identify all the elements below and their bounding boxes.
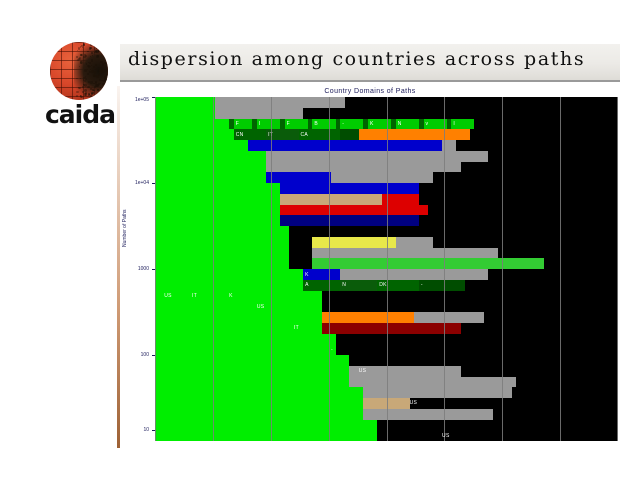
bar-segment: [484, 312, 618, 323]
bar-segment: N: [340, 280, 377, 291]
bar-segment: [516, 377, 618, 388]
caida-logo: caida: [44, 42, 116, 134]
bar-segment: [155, 398, 363, 409]
globe-speck: [90, 69, 91, 70]
bar-segment: [433, 237, 618, 248]
segment-label: B: [314, 121, 318, 127]
bar-segment: [377, 430, 618, 441]
inline-country-label: IT: [192, 293, 197, 299]
globe-speck: [96, 75, 98, 77]
segment-label: CA: [301, 132, 309, 138]
x-gridline: [387, 97, 388, 441]
chart-container: Country Domains of Paths Number of Paths…: [120, 86, 620, 448]
bar-segment: -: [340, 119, 363, 130]
bar-segment: [465, 280, 618, 291]
segment-label: A: [305, 282, 309, 288]
bar-segment: [155, 97, 215, 108]
bar-segment: [377, 420, 618, 431]
bar-segment: -: [419, 280, 465, 291]
bar-segment: DK: [377, 280, 419, 291]
segment-label: F: [287, 121, 290, 127]
globe-speck: [95, 81, 97, 83]
bar-segment: [312, 248, 497, 259]
globe-speck: [93, 66, 94, 67]
bar-segment: [155, 269, 303, 280]
bar-segment: [155, 237, 289, 248]
bar-segment: [155, 409, 363, 420]
bar-segment: [280, 215, 419, 226]
globe-speck: [76, 56, 77, 57]
bar-segment: [155, 334, 336, 345]
bar-segment: A: [303, 280, 340, 291]
inline-country-label: -: [331, 347, 333, 353]
globe-speck: [102, 83, 105, 86]
bar-segment: [155, 366, 349, 377]
bar-segment: [266, 162, 460, 173]
bar-segment: [428, 205, 618, 216]
page-title: dispersion among countries across paths: [128, 48, 585, 70]
bar-segment: [410, 398, 618, 409]
bar-segment: [155, 387, 363, 398]
bar-segment: [312, 237, 395, 248]
globe-speck: [76, 91, 79, 94]
globe-speck: [80, 95, 83, 98]
bar-segment: K: [368, 119, 391, 130]
bar-segment: [280, 183, 419, 194]
bar-segment: [512, 387, 618, 398]
bar-segment: [312, 258, 544, 269]
bar-segment: K: [303, 269, 340, 280]
bar-segment: [493, 409, 618, 420]
bar-segment: [456, 140, 618, 151]
bar-segment: [155, 248, 289, 259]
segment-label: I: [259, 121, 261, 127]
bar-segment: [488, 269, 618, 280]
y-tick-label: 10: [143, 427, 149, 433]
bar-segment: [280, 194, 382, 205]
bar-segment: [433, 172, 618, 183]
bar-segment: B: [312, 119, 335, 130]
bar-segment: [155, 140, 248, 151]
globe-speck: [85, 55, 87, 57]
plot-area: FIFB-KNvICNITCAKANDK-USITKUSIT-USUSUS: [155, 97, 618, 441]
y-tick-label: 1e+05: [135, 97, 149, 103]
bar-segment: I: [451, 119, 474, 130]
bottom-rule: [120, 447, 620, 449]
bar-segment: [488, 151, 618, 162]
segment-label: v: [426, 121, 429, 127]
globe-speck: [99, 71, 102, 74]
globe-speck: [102, 88, 104, 90]
globe-speck: [105, 89, 106, 90]
bar-segment: [155, 226, 289, 237]
x-gridline: [329, 97, 330, 441]
bar-segment: [155, 183, 280, 194]
bar-segment: [340, 269, 488, 280]
bar-segment: [359, 129, 470, 140]
globe-speck: [95, 51, 96, 52]
x-gridline: [213, 97, 214, 441]
bar-segment: [461, 162, 618, 173]
globe-speck: [80, 54, 82, 56]
bar-segment: [474, 119, 618, 130]
globe-speck: [90, 43, 92, 45]
x-gridline: [444, 97, 445, 441]
caida-globe-icon: [50, 42, 108, 100]
bar-segment: F: [234, 119, 253, 130]
bar-segment: [155, 430, 377, 441]
bar-segment: [155, 205, 280, 216]
globe-speck: [97, 89, 99, 91]
globe-speck: [91, 70, 94, 73]
x-gridline: [560, 97, 561, 441]
bar-segment: [461, 323, 618, 334]
inline-country-label: US: [257, 304, 265, 310]
bar-segment: [470, 129, 618, 140]
inline-country-label: IT: [294, 325, 299, 331]
bar-segment: [322, 301, 618, 312]
inline-country-label: US: [442, 433, 450, 439]
x-gridline: [271, 97, 272, 441]
globe-speck: [106, 82, 107, 83]
bar-segment: v: [424, 119, 447, 130]
bar-segment: [419, 183, 618, 194]
x-gridline: [155, 97, 156, 441]
segment-label: N: [342, 282, 346, 288]
bar-segment: [155, 355, 349, 366]
globe-speck: [76, 95, 78, 97]
chart-title: Country Domains of Paths: [120, 86, 620, 97]
bar-segment: [266, 172, 331, 183]
segment-label: F: [236, 121, 239, 127]
bar-segment: F: [285, 119, 308, 130]
y-axis: Number of Paths 1e+051e+04100010010: [120, 97, 155, 441]
globe-speck: [79, 66, 80, 67]
segment-label: K: [305, 272, 309, 278]
bar-segment: [215, 97, 345, 108]
bar-segment: [155, 312, 322, 323]
bar-segment: [280, 205, 428, 216]
inline-country-label: US: [359, 368, 367, 374]
bar-segment: [322, 291, 618, 302]
bar-segment: CA: [299, 129, 341, 140]
bar-segment: [155, 258, 289, 269]
segment-label: -: [421, 282, 423, 288]
bar-segment: [498, 248, 618, 259]
bar-segment: [544, 258, 618, 269]
bar-segment: [155, 215, 280, 226]
bar-segment: [155, 172, 266, 183]
bar-segment: [419, 194, 618, 205]
bar-segment: [322, 323, 461, 334]
bar-segment: [155, 151, 266, 162]
segment-label: CN: [236, 132, 244, 138]
x-gridline: [502, 97, 503, 441]
bar-segment: [349, 355, 618, 366]
segment-label: I: [453, 121, 455, 127]
segment-label: N: [398, 121, 402, 127]
bar-segment: [419, 215, 618, 226]
bar-segment: [461, 366, 618, 377]
bar-segment: [155, 119, 229, 130]
bar-segment: [303, 108, 618, 119]
bar-segment: [155, 129, 234, 140]
bar-segment: [363, 409, 493, 420]
bar-segment: [266, 151, 488, 162]
globe-speck: [85, 93, 88, 96]
y-axis-label: Number of Paths: [122, 187, 128, 247]
bar-segment: [155, 344, 336, 355]
y-tick-label: 100: [141, 352, 149, 358]
bar-segment: [155, 301, 322, 312]
bar-segment: CN: [234, 129, 266, 140]
globe-speck: [80, 61, 82, 63]
bar-segment: [215, 108, 303, 119]
bar-segment: I: [257, 119, 280, 130]
globe-speck: [101, 67, 102, 68]
globe-speck: [104, 45, 106, 47]
bar-segment: [349, 377, 516, 388]
bar-segment: [155, 280, 303, 291]
bar-segment: [155, 377, 349, 388]
globe-speck: [78, 47, 80, 49]
bar-segment: [248, 140, 442, 151]
globe-speck: [80, 47, 81, 48]
title-banner: dispersion among countries across paths: [120, 44, 620, 82]
slide-canvas: caida dispersion among countries across …: [0, 0, 640, 480]
bar-segment: [155, 420, 377, 431]
bar-segment: N: [396, 119, 419, 130]
globe-speck: [89, 71, 91, 73]
bar-segment: [155, 162, 266, 173]
segment-label: -: [342, 121, 344, 127]
bar-segment: [331, 172, 433, 183]
globe-speck: [98, 67, 99, 68]
bar-segment: [322, 312, 415, 323]
bar-segment: [155, 108, 215, 119]
bar-segment: [289, 226, 618, 237]
globe-speck: [106, 58, 108, 60]
inline-country-label: US: [410, 400, 418, 406]
bar-segment: [336, 334, 618, 345]
x-gridline: [617, 97, 618, 441]
segment-label: K: [370, 121, 374, 127]
y-tick-label: 1000: [138, 266, 149, 272]
globe-speck: [85, 78, 87, 80]
bar-segment: [155, 291, 322, 302]
bar-segment: [336, 344, 618, 355]
inline-country-label: US: [164, 293, 172, 299]
caida-wordmark: caida: [44, 100, 116, 130]
globe-speck: [107, 53, 108, 56]
globe-speck: [89, 47, 91, 49]
y-tick-label: 1e+04: [135, 180, 149, 186]
bar-segment: [155, 194, 280, 205]
inline-country-label: K: [229, 293, 233, 299]
